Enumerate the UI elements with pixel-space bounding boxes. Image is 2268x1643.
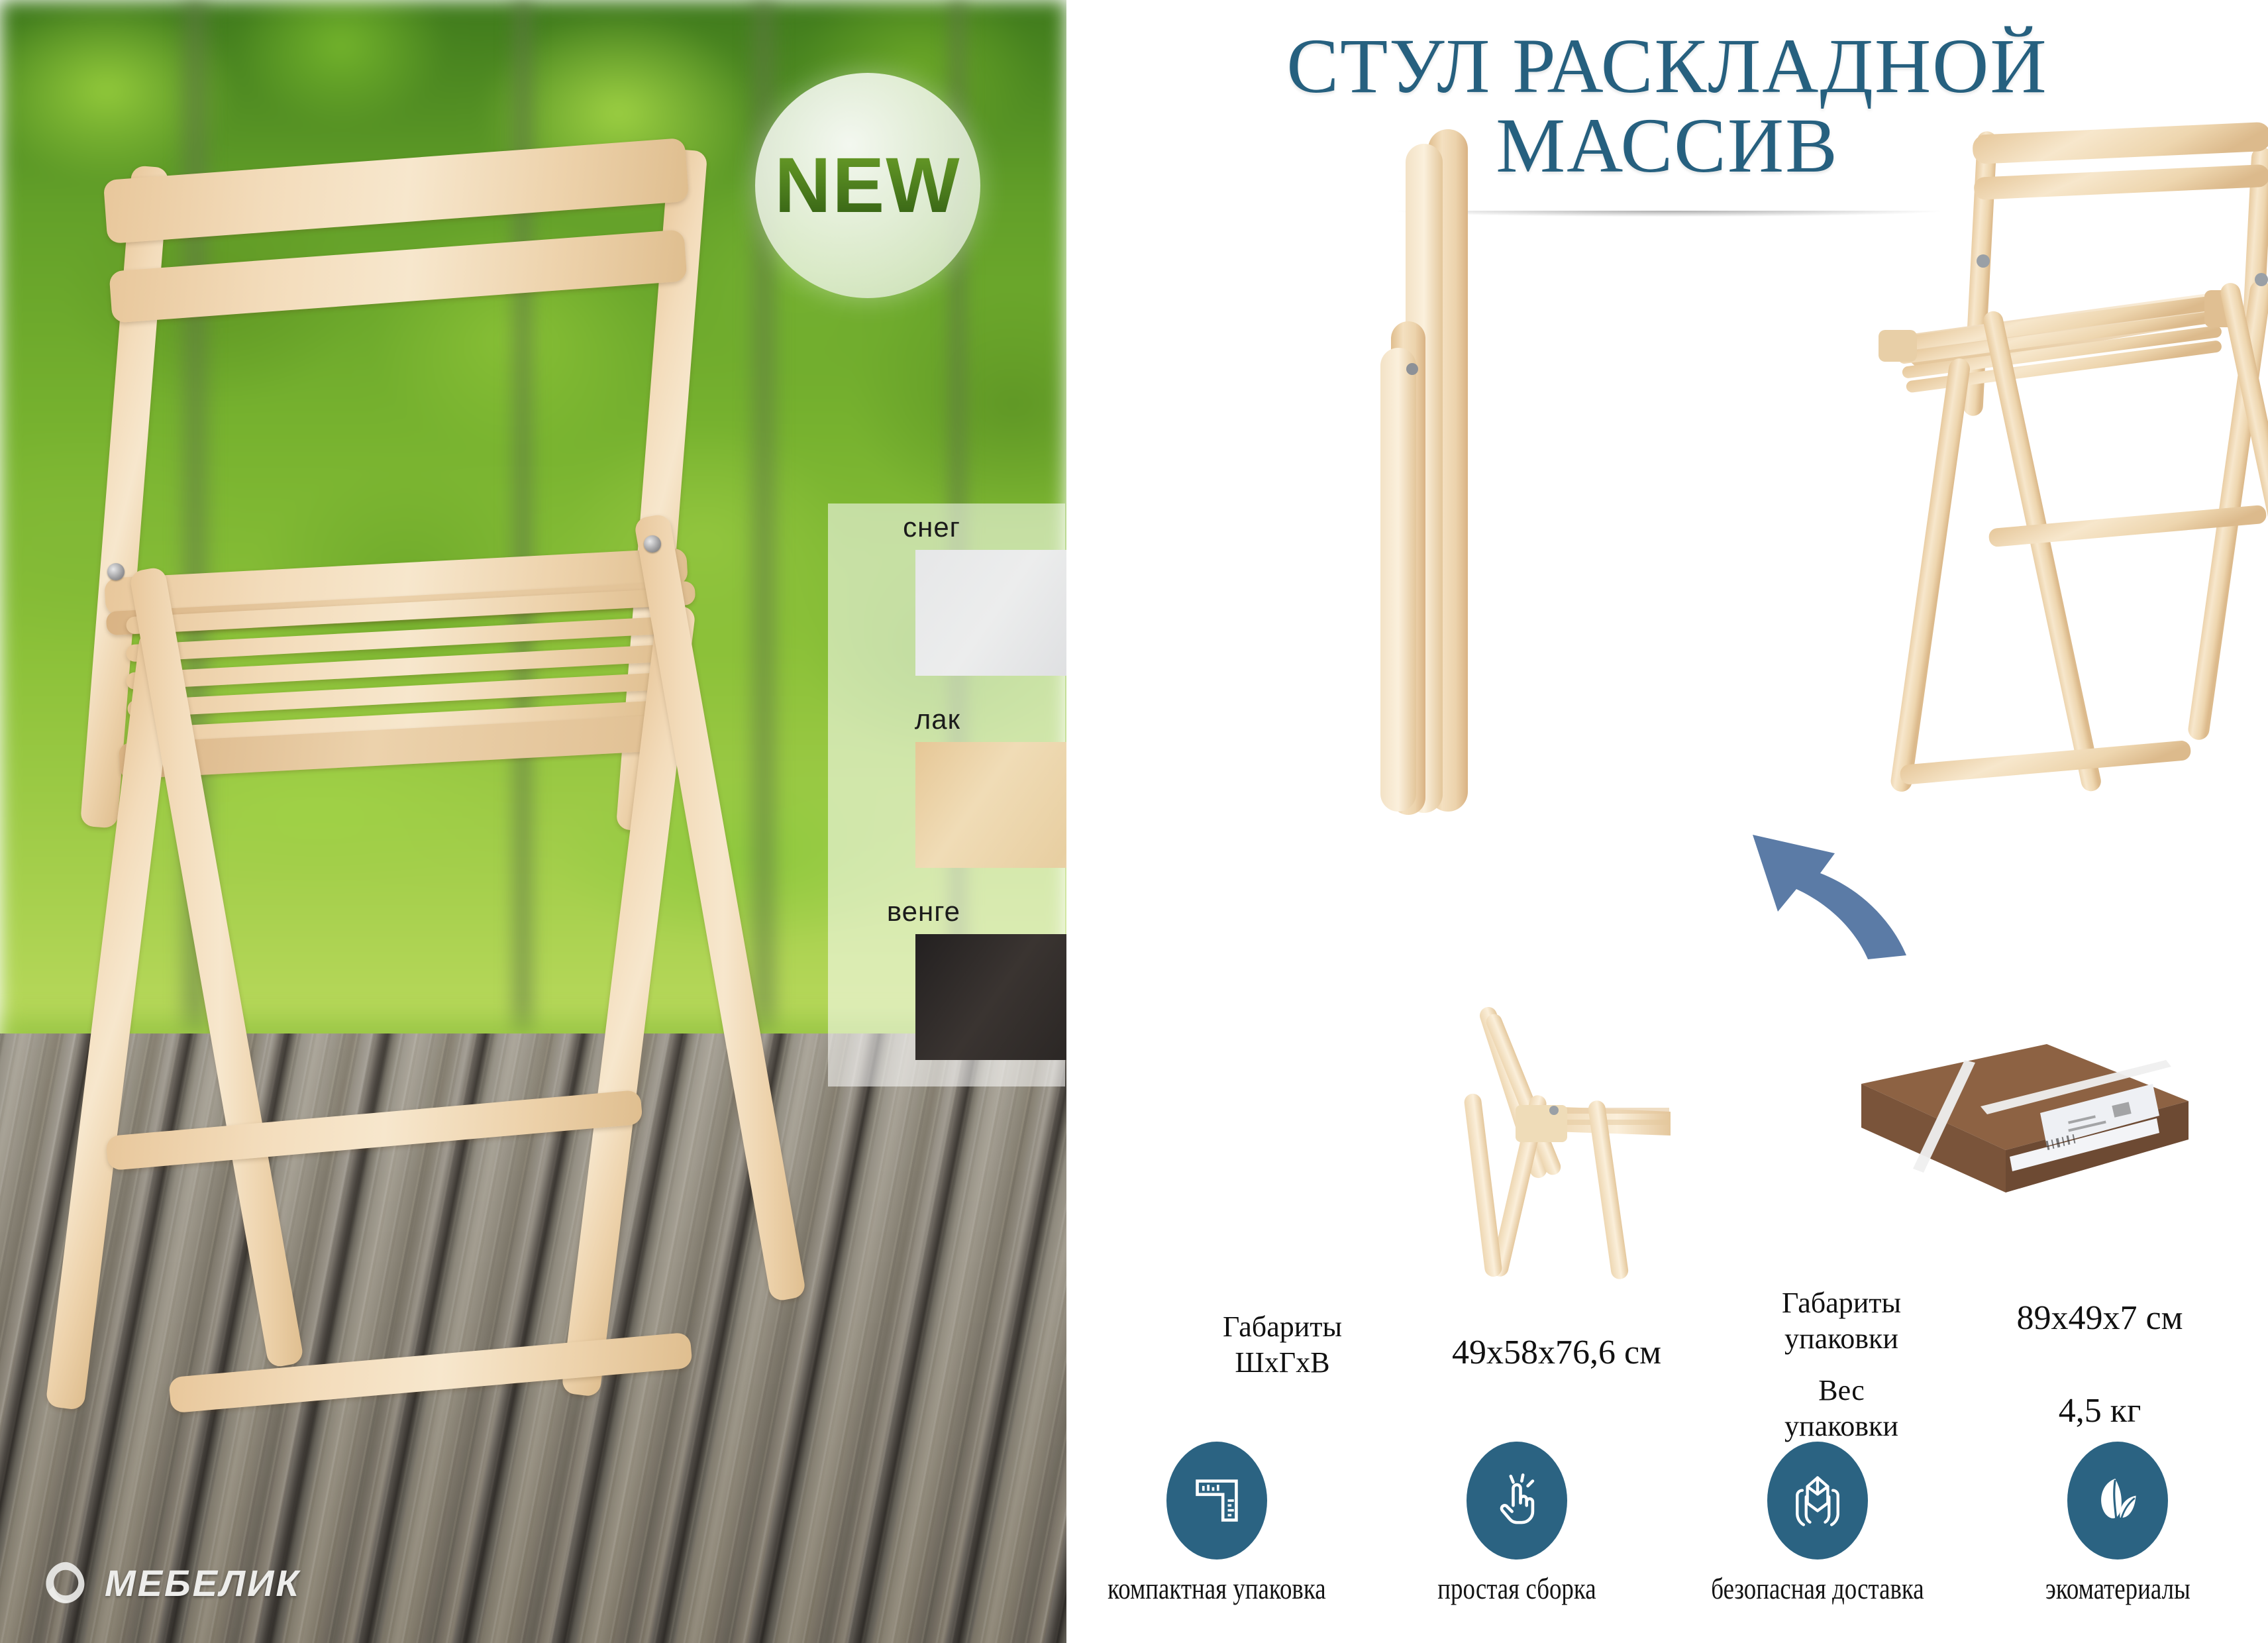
feature-badges: компактная упаковка п [1066, 1442, 2268, 1606]
package-label-line1: Габариты [1742, 1285, 1941, 1321]
feature-safe-delivery: безопасная доставка [1678, 1442, 1957, 1606]
feature-compact-package: компактная упаковка [1078, 1442, 1356, 1606]
dimensions-label: Габариты ШхГхВ [1176, 1309, 1388, 1380]
brand-logo: МЕБЕЛИК [41, 1558, 301, 1607]
feature-label: безопасная доставка [1711, 1571, 1924, 1606]
fold-direction-arrow [1735, 815, 1914, 967]
swatch-label-venge: венге [808, 896, 960, 927]
trefoil-swirl-logo-icon [41, 1558, 90, 1607]
package-weight-value: 4,5 кг [1961, 1391, 2239, 1430]
weight-label-line2: упаковки [1742, 1408, 1941, 1444]
flat-package-box [1782, 1040, 2192, 1272]
package-weight-label: Вес упаковки [1742, 1373, 1941, 1444]
hands-protecting-box-icon [1767, 1442, 1868, 1560]
brand-logo-text: МЕБЕЛИК [105, 1562, 301, 1605]
feature-label: компактная упаковка [1108, 1571, 1325, 1606]
dimensions-value: 49x58x76,6 см [1411, 1333, 1702, 1372]
package-label-line2: упаковки [1742, 1321, 1941, 1357]
chair-open-view [26, 139, 901, 1464]
feature-easy-assembly: простая сборка [1378, 1442, 1656, 1606]
new-badge-label: NEW [774, 140, 960, 231]
swatch-label-lak: лак [808, 704, 960, 735]
feature-label: экоматериалы [2045, 1571, 2191, 1606]
chair-open-view [1841, 119, 2268, 828]
page-title-line1: СТУЛ РАСКЛАДНОЙ [1066, 26, 2268, 106]
new-badge: NEW [755, 73, 980, 298]
infographic-page: NEW МЕБЕЛИК снег лак венге [0, 0, 2268, 1643]
weight-label-line1: Вес [1742, 1373, 1941, 1408]
hand-click-icon [1467, 1442, 1567, 1560]
leaves-icon [2067, 1442, 2168, 1560]
chair-folded-side-view [1411, 994, 1689, 1285]
chair-folded-edge-view [1365, 123, 1537, 825]
dimensions-label-line2: ШхГхВ [1176, 1345, 1388, 1381]
package-dimensions-value: 89x49x7 см [1961, 1298, 2239, 1338]
swatch-label-sneg: снег [808, 511, 960, 543]
feature-label: простая сборка [1438, 1571, 1596, 1606]
ruler-icon [1166, 1442, 1267, 1560]
right-content-panel: СТУЛ РАСКЛАДНОЙ МАССИВ [1066, 0, 2268, 1643]
package-dimensions-label: Габариты упаковки [1742, 1285, 1941, 1356]
dimensions-label-line1: Габариты [1176, 1309, 1388, 1345]
feature-eco-materials: экоматериалы [1979, 1442, 2257, 1606]
